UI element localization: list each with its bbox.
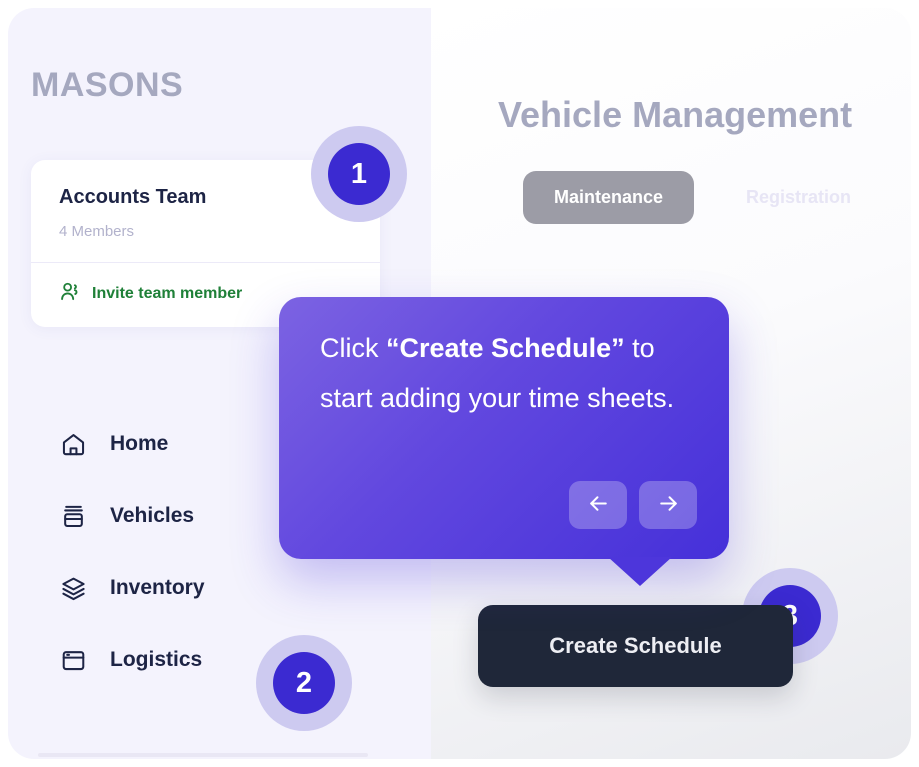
tab-bar: Maintenance Registration (523, 171, 855, 224)
step-badge-number: 2 (273, 652, 335, 714)
sidebar-item-label: Home (110, 432, 168, 456)
app-window: MASONS Accounts Team 4 Members (8, 8, 911, 759)
arrow-right-icon (656, 491, 681, 519)
step-badge-2[interactable]: 2 (256, 635, 352, 731)
home-icon (60, 431, 87, 458)
tooltip-text-before: Click (320, 333, 386, 363)
step-badge-number: 1 (328, 143, 390, 205)
coach-mark-tooltip: Click “Create Schedule” to start adding … (279, 297, 729, 559)
tab-registration[interactable]: Registration (742, 171, 855, 224)
layers-icon (60, 575, 87, 602)
step-badge-1[interactable]: 1 (311, 126, 407, 222)
sidebar-item-label: Logistics (110, 648, 202, 672)
sidebar-bottom-divider (38, 753, 368, 757)
tooltip-text-bold: “Create Schedule” (386, 333, 625, 363)
tooltip-text: Click “Create Schedule” to start adding … (320, 323, 692, 423)
team-member-count: 4 Members (59, 223, 352, 240)
invite-label: Invite team member (92, 285, 242, 303)
screenshot-root: MASONS Accounts Team 4 Members (0, 0, 919, 767)
vehicles-icon (60, 503, 87, 530)
tooltip-prev-button[interactable] (569, 481, 627, 529)
arrow-left-icon (586, 491, 611, 519)
tooltip-next-button[interactable] (639, 481, 697, 529)
sidebar-item-label: Vehicles (110, 504, 194, 528)
brand-logo: MASONS (31, 66, 183, 105)
team-name: Accounts Team (59, 186, 352, 209)
sidebar-item-inventory[interactable]: Inventory (31, 552, 371, 624)
create-schedule-button[interactable]: Create Schedule (478, 605, 793, 687)
tooltip-nav (569, 481, 697, 529)
person-add-icon (59, 280, 82, 308)
tooltip-tail (608, 557, 672, 586)
sidebar-item-label: Inventory (110, 576, 205, 600)
window-icon (60, 647, 87, 674)
tab-maintenance[interactable]: Maintenance (523, 171, 694, 224)
page-title: Vehicle Management (498, 94, 852, 136)
